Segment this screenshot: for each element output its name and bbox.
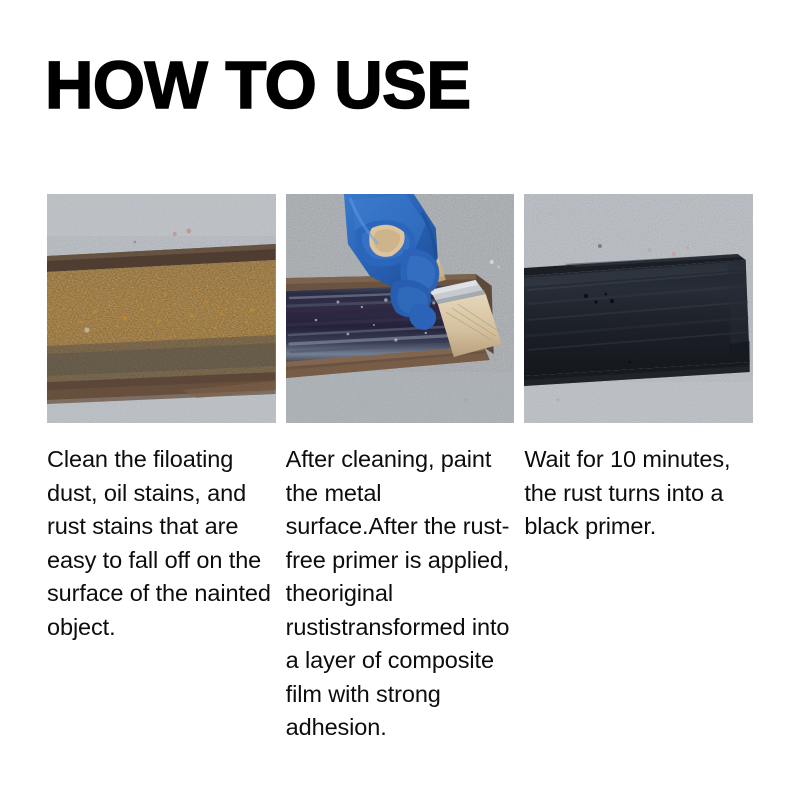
painting-primer-photo [286,194,515,423]
how-to-use-infographic: HOW TO USE [0,0,800,800]
step-1: Clean the filoating dust, oil stains, an… [47,194,276,745]
painting-primer-illustration [286,194,515,423]
page-title: HOW TO USE [45,52,471,119]
step-2: After cleaning, paint the metal surface.… [286,194,515,745]
black-primer-beam-illustration [524,194,753,423]
black-primer-result-photo [524,194,753,423]
rusty-beam-illustration [47,194,276,423]
step-1-caption: Clean the filoating dust, oil stains, an… [47,443,276,644]
step-3-caption: Wait for 10 minutes, the rust turns into… [524,443,753,544]
steps-row: Clean the filoating dust, oil stains, an… [47,194,753,745]
rusty-steel-beam-photo [47,194,276,423]
step-2-caption: After cleaning, paint the metal surface.… [286,443,515,745]
step-3: Wait for 10 minutes, the rust turns into… [524,194,753,745]
